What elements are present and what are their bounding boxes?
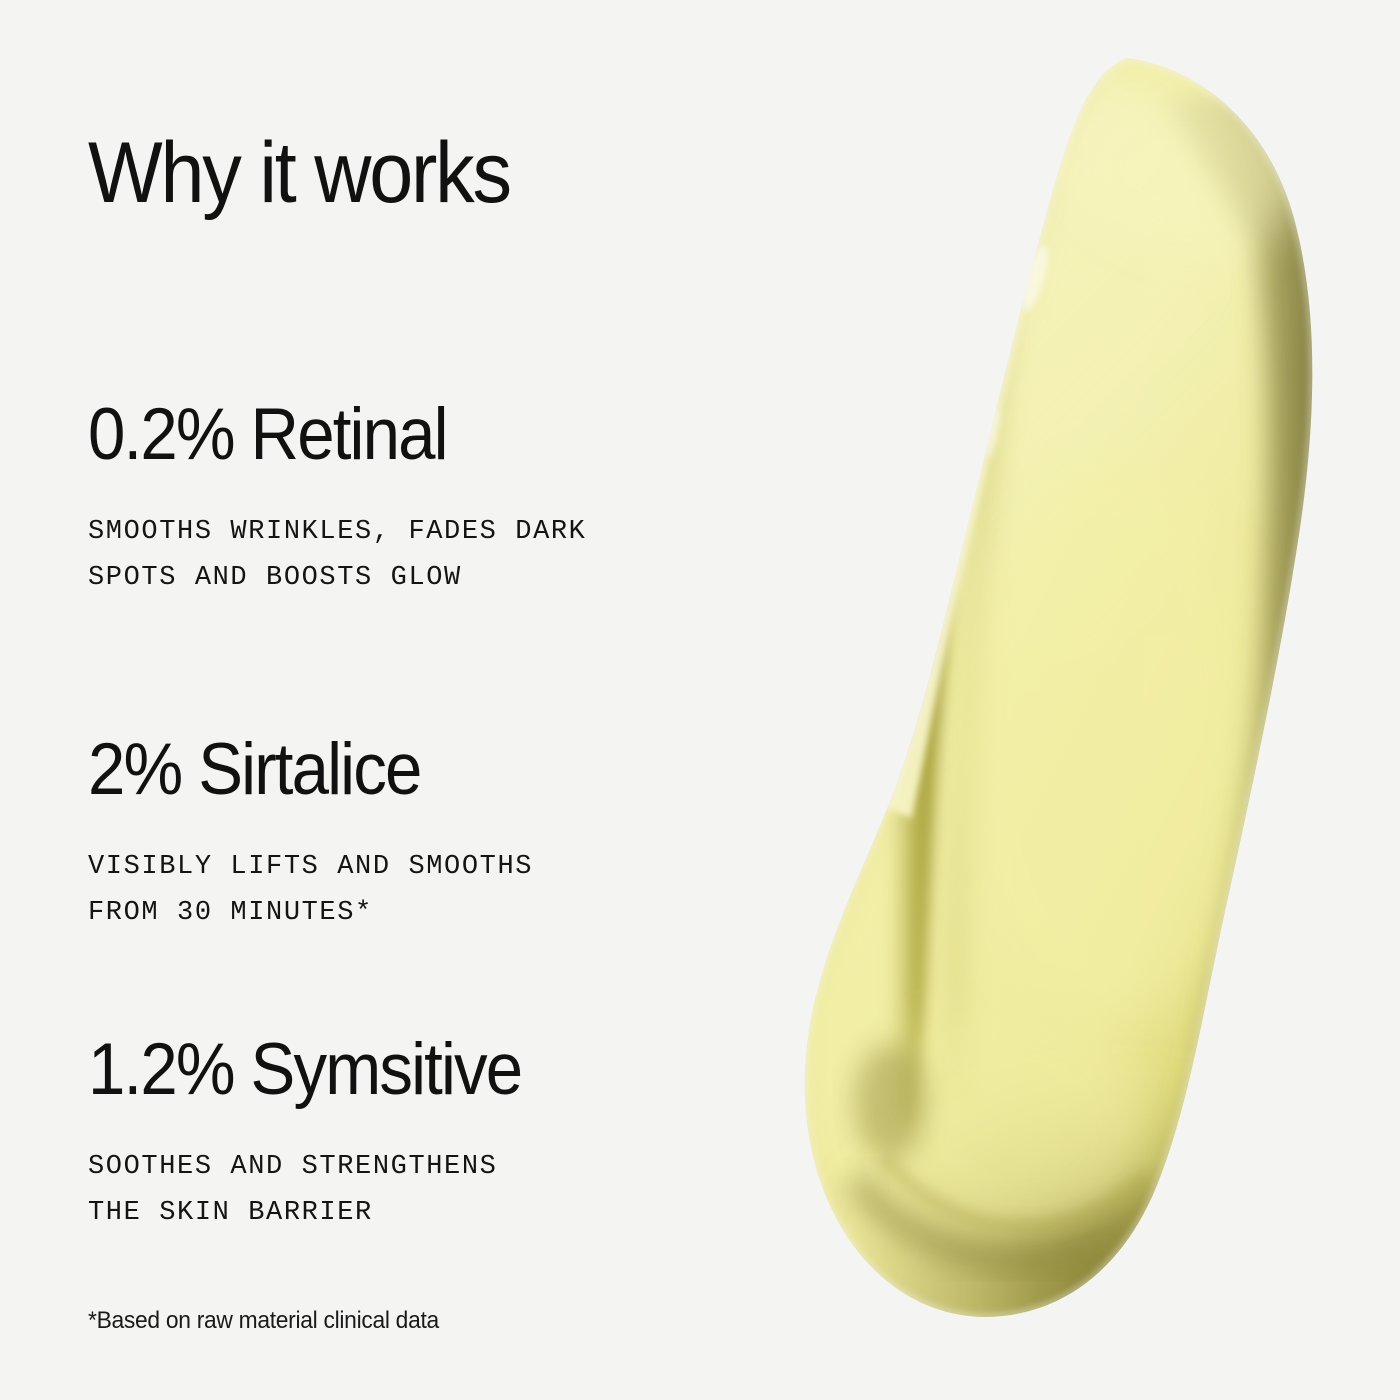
ingredient-name-sirtalice: 2% Sirtalice <box>88 733 787 806</box>
text-column: Why it works 0.2% Retinal SMOOTHS WRINKL… <box>88 0 848 1400</box>
ingredient-block-symsitive: 1.2% Symsitive SOOTHES AND STRENGTHENS T… <box>88 1033 848 1236</box>
ingredient-name-symsitive: 1.2% Symsitive <box>88 1033 787 1106</box>
ingredient-description-sirtalice: VISIBLY LIFTS AND SMOOTHS FROM 30 MINUTE… <box>88 806 848 936</box>
ingredient-block-sirtalice: 2% Sirtalice VISIBLY LIFTS AND SMOOTHS F… <box>88 733 848 936</box>
ingredient-name-retinal: 0.2% Retinal <box>88 398 787 471</box>
page-title: Why it works <box>88 130 510 216</box>
footnote-disclaimer: *Based on raw material clinical data <box>88 1307 439 1336</box>
marketing-card: Why it works 0.2% Retinal SMOOTHS WRINKL… <box>0 0 1400 1400</box>
ingredient-description-retinal: SMOOTHS WRINKLES, FADES DARK SPOTS AND B… <box>88 471 848 601</box>
ingredient-description-symsitive: SOOTHES AND STRENGTHENS THE SKIN BARRIER <box>88 1106 848 1236</box>
ingredient-block-retinal: 0.2% Retinal SMOOTHS WRINKLES, FADES DAR… <box>88 398 848 601</box>
